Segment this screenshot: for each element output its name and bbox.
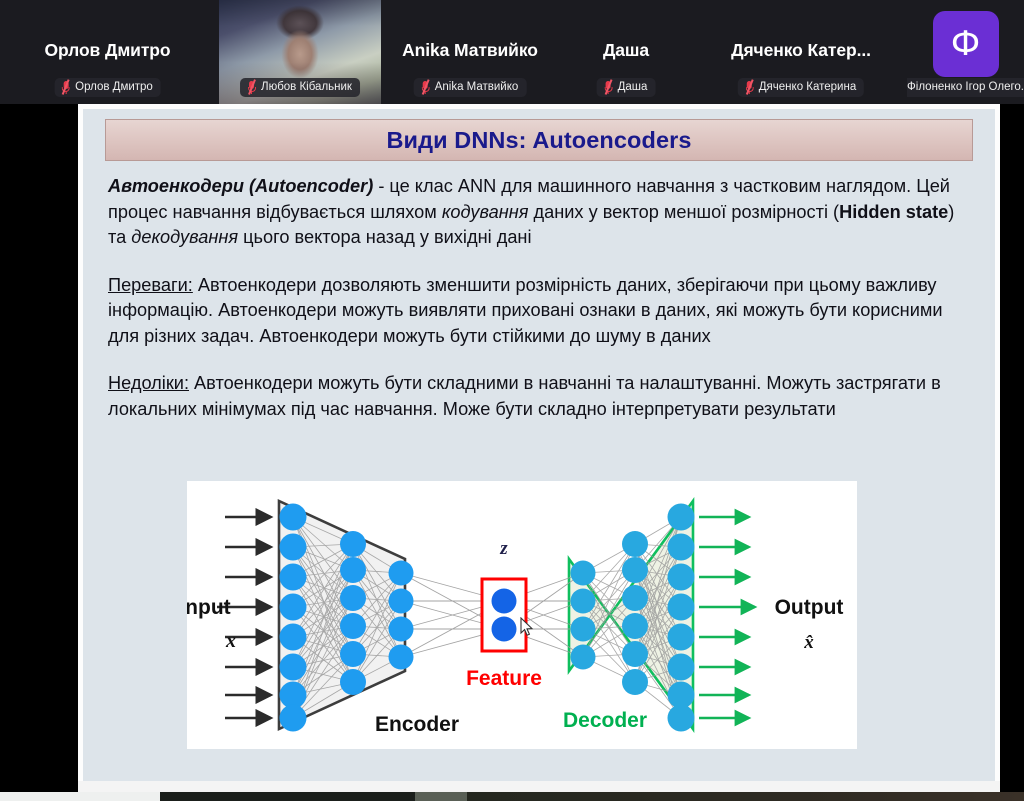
participant-display-name: Anika Матвийко [385,40,555,61]
label-output: Output [775,596,844,619]
participant-badge-label: Дяченко Катерина [759,80,856,94]
participant-name-badge: Anika Матвийко [414,78,527,97]
paragraph-spacer [108,349,969,371]
os-taskbar[interactable] [0,792,1024,801]
participant-tile-orlov-dmytro[interactable]: Орлов Дмитро Орлов Дмитро [0,0,215,104]
slide-title-bar: Види DNNs: Autoencoders [105,119,973,161]
taskbar-tray-region[interactable] [467,792,1024,801]
participant-display-name: Даша [557,40,695,61]
participant-tile-anika-matviyko[interactable]: Anika Матвийко Anika Матвийко [385,0,555,104]
label-feature: Feature [466,667,542,690]
video-filmstrip: Орлов Дмитро Орлов Дмитро Любов Кібальни… [0,0,1024,104]
run-emphasis: кодування [442,202,529,222]
label-input-symbol: x [225,630,236,652]
participant-tile-dasha[interactable]: Даша Даша [557,0,695,104]
run-text: Автоенкодери можуть бути складними в нав… [108,373,941,419]
participant-name-badge: Любов Кібальник [240,78,360,97]
participant-badge-label: Anika Матвийко [435,80,519,94]
label-input: Input [187,596,231,619]
slide-body-text: Автоенкодери (Autoencoder) - це клас ANN… [105,174,973,422]
participant-badge-label: Даша [618,80,648,94]
taskbar-app-region-2[interactable] [415,792,467,801]
run-text: даних у вектор меншої розмірності ( [528,202,839,222]
screen-share-frame: Види DNNs: Autoencoders Автоенкодери (Au… [78,104,1000,792]
taskbar-app-region-1[interactable] [160,792,415,801]
paragraph-definition: Автоенкодери (Autoencoder) - це клас ANN… [108,174,969,251]
label-latent-symbol: z [499,538,508,559]
participant-tile-lyubov-kibalnyk[interactable]: Любов Кібальник [219,0,381,104]
label-decoder: Decoder [563,709,647,732]
screen-root: Орлов Дмитро Орлов Дмитро Любов Кібальни… [0,0,1024,801]
mic-muted-icon [60,80,71,94]
participant-badge-label: Орлов Дмитро [75,80,153,94]
run-heading: Недоліки: [108,373,189,393]
participant-name-badge: Орлов Дмитро [54,78,161,97]
run-text: цього вектора назад у вихідні дані [238,227,531,247]
participant-name-badge: Дяченко Катерина [738,78,864,97]
mic-muted-icon [246,80,257,94]
presentation-slide: Види DNNs: Autoencoders Автоенкодери (Au… [83,109,995,787]
run-heading: Переваги: [108,275,193,295]
participant-tile-dyachenko-kateryna[interactable]: Дяченко Катер... Дяченко Катерина [697,0,905,104]
participant-name-badge: Даша [597,78,656,97]
paragraph-spacer [108,251,969,273]
run-text: Автоенкодери дозволяють зменшити розмірн… [108,275,943,346]
label-output-symbol: x̂ [803,632,814,653]
output-arrows [699,517,755,718]
participant-display-name: Орлов Дмитро [0,40,215,61]
participant-badge-label: Любов Кібальник [261,80,352,94]
avatar: Ф [933,11,999,77]
run-emphasis: декодування [131,227,238,247]
slide-title-text: Види DNNs: Autoencoders [386,127,691,154]
avatar-initial: Ф [951,27,980,61]
taskbar-start-region[interactable] [0,792,160,801]
mic-muted-icon [420,80,431,94]
participant-tile-filonenko-ihor[interactable]: Ф Філоненко Ігор Олего. [907,0,1024,104]
participant-name-badge: Філоненко Ігор Олего. [907,78,1024,97]
run-strong: Hidden state [839,202,948,222]
mic-muted-icon [603,80,614,94]
share-frame-bottom-edge [78,781,1000,792]
autoencoder-diagram: Input x Encoder z Feature Decoder Output… [187,481,857,749]
label-encoder: Encoder [375,713,459,736]
participant-badge-label: Філоненко Ігор Олего. [907,80,1024,94]
mic-muted-icon [744,80,755,94]
run-term: Автоенкодери (Autoencoder) [108,176,373,196]
autoencoder-diagram-svg: Input x Encoder z Feature Decoder Output… [187,481,857,749]
participant-display-name: Дяченко Катер... [697,40,905,61]
paragraph-disadvantages: Недоліки: Автоенкодери можуть бути склад… [108,371,969,422]
paragraph-advantages: Переваги: Автоенкодери дозволяють зменши… [108,273,969,350]
